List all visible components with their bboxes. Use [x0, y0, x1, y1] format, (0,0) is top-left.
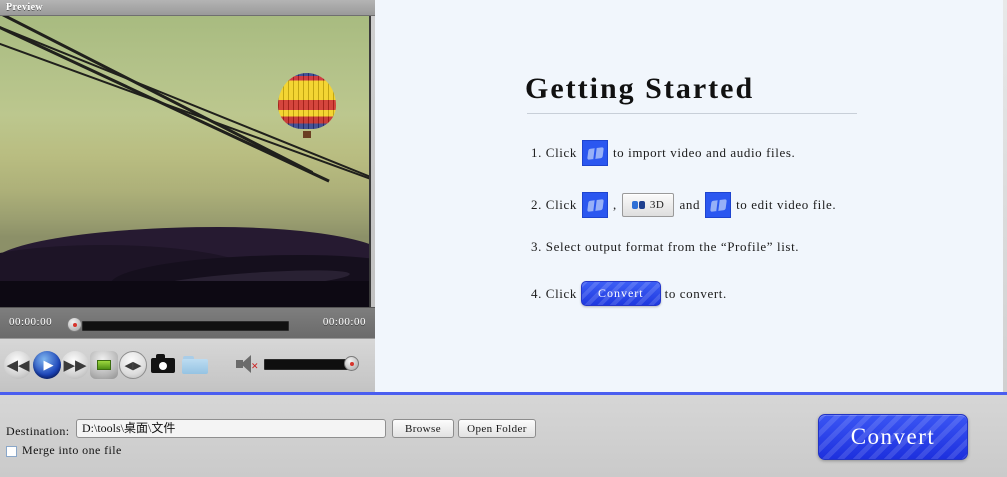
step-frame-icon[interactable]: ◀▶	[119, 351, 147, 379]
folder-body	[182, 359, 208, 374]
step-glyph: ◀▶	[120, 352, 146, 378]
balloon-envelope	[278, 73, 336, 129]
current-time: 00:00:00	[9, 316, 52, 328]
preview-panel: Preview 00:00:00	[0, 0, 375, 392]
step2-and-text: and	[679, 197, 700, 213]
player-controls: ◀◀ ▶ ▶▶ ◀▶ ✕	[0, 338, 375, 393]
window-right-edge	[1003, 0, 1007, 392]
volume-handle[interactable]	[344, 356, 359, 371]
total-time: 00:00:00	[323, 316, 366, 328]
effect-video-icon[interactable]	[705, 192, 731, 218]
guide-step-1: 1. Click to import video and audio files…	[531, 140, 795, 166]
camera-hump	[156, 354, 165, 359]
balloon-stripes	[278, 73, 336, 129]
volume-track[interactable]	[264, 359, 352, 370]
convert-button[interactable]: Convert	[818, 414, 968, 460]
three-d-label: 3D	[650, 199, 665, 211]
guide-step-4: 4. Click Convert to convert.	[531, 281, 727, 306]
add-files-icon[interactable]	[582, 140, 608, 166]
step4-post-text: to convert.	[665, 286, 727, 302]
three-d-button[interactable]: 3D	[622, 193, 675, 217]
merge-into-one-file-label: Merge into one file	[22, 443, 122, 458]
browse-button[interactable]: Browse	[392, 419, 454, 438]
step1-pre-text: 1. Click	[531, 145, 577, 161]
destination-input[interactable]: D:\tools\桌面\文件	[76, 419, 386, 438]
seek-track[interactable]	[82, 321, 289, 331]
preview-titlebar: Preview	[0, 0, 375, 16]
page-title: Getting Started	[525, 72, 754, 106]
rewind-icon[interactable]: ◀◀	[4, 351, 32, 379]
play-glyph: ▶	[33, 351, 61, 379]
step2-post-text: to edit video file.	[736, 197, 836, 213]
speaker-cone	[241, 355, 251, 373]
app-window: Preview 00:00:00	[0, 0, 1007, 477]
open-folder-button[interactable]: Open Folder	[458, 419, 536, 438]
edit-video-icon[interactable]	[582, 192, 608, 218]
hot-air-balloon	[278, 73, 336, 139]
snapshot-camera-icon[interactable]	[149, 351, 177, 379]
step1-post-text: to import video and audio files.	[613, 145, 795, 161]
step4-pre-text: 4. Click	[531, 286, 577, 302]
merge-into-one-file-checkbox[interactable]	[6, 446, 17, 457]
step3-text: 3. Select output format from the “Profil…	[531, 239, 799, 255]
hill-silhouette	[0, 223, 369, 307]
fast-forward-icon[interactable]: ▶▶	[61, 351, 89, 379]
play-icon[interactable]: ▶	[33, 351, 61, 379]
video-preview-area[interactable]	[0, 16, 371, 307]
mute-cross-icon: ✕	[251, 363, 259, 372]
three-d-glasses-icon	[632, 200, 646, 210]
camera-lens	[159, 362, 167, 370]
seek-handle[interactable]	[67, 317, 82, 332]
step2-comma: ,	[613, 197, 617, 213]
getting-started-panel: Getting Started 1. Click to import video…	[375, 0, 1007, 392]
inline-convert-button[interactable]: Convert	[581, 281, 661, 306]
step2-pre-text: 2. Click	[531, 197, 577, 213]
destination-label: Destination:	[6, 424, 69, 439]
seek-bar-row: 00:00:00 00:00:00	[0, 307, 375, 339]
rewind-glyph: ◀◀	[4, 351, 32, 379]
balloon-basket	[303, 131, 311, 138]
guide-step-2: 2. Click , 3D and to edit video file.	[531, 192, 836, 218]
guide-step-3: 3. Select output format from the “Profil…	[531, 239, 799, 255]
fast-forward-glyph: ▶▶	[61, 351, 89, 379]
title-divider	[527, 113, 857, 114]
stop-icon[interactable]	[90, 351, 118, 379]
mute-speaker-icon[interactable]: ✕	[236, 354, 258, 374]
hill-front	[0, 281, 371, 307]
open-folder-icon[interactable]	[181, 351, 209, 379]
